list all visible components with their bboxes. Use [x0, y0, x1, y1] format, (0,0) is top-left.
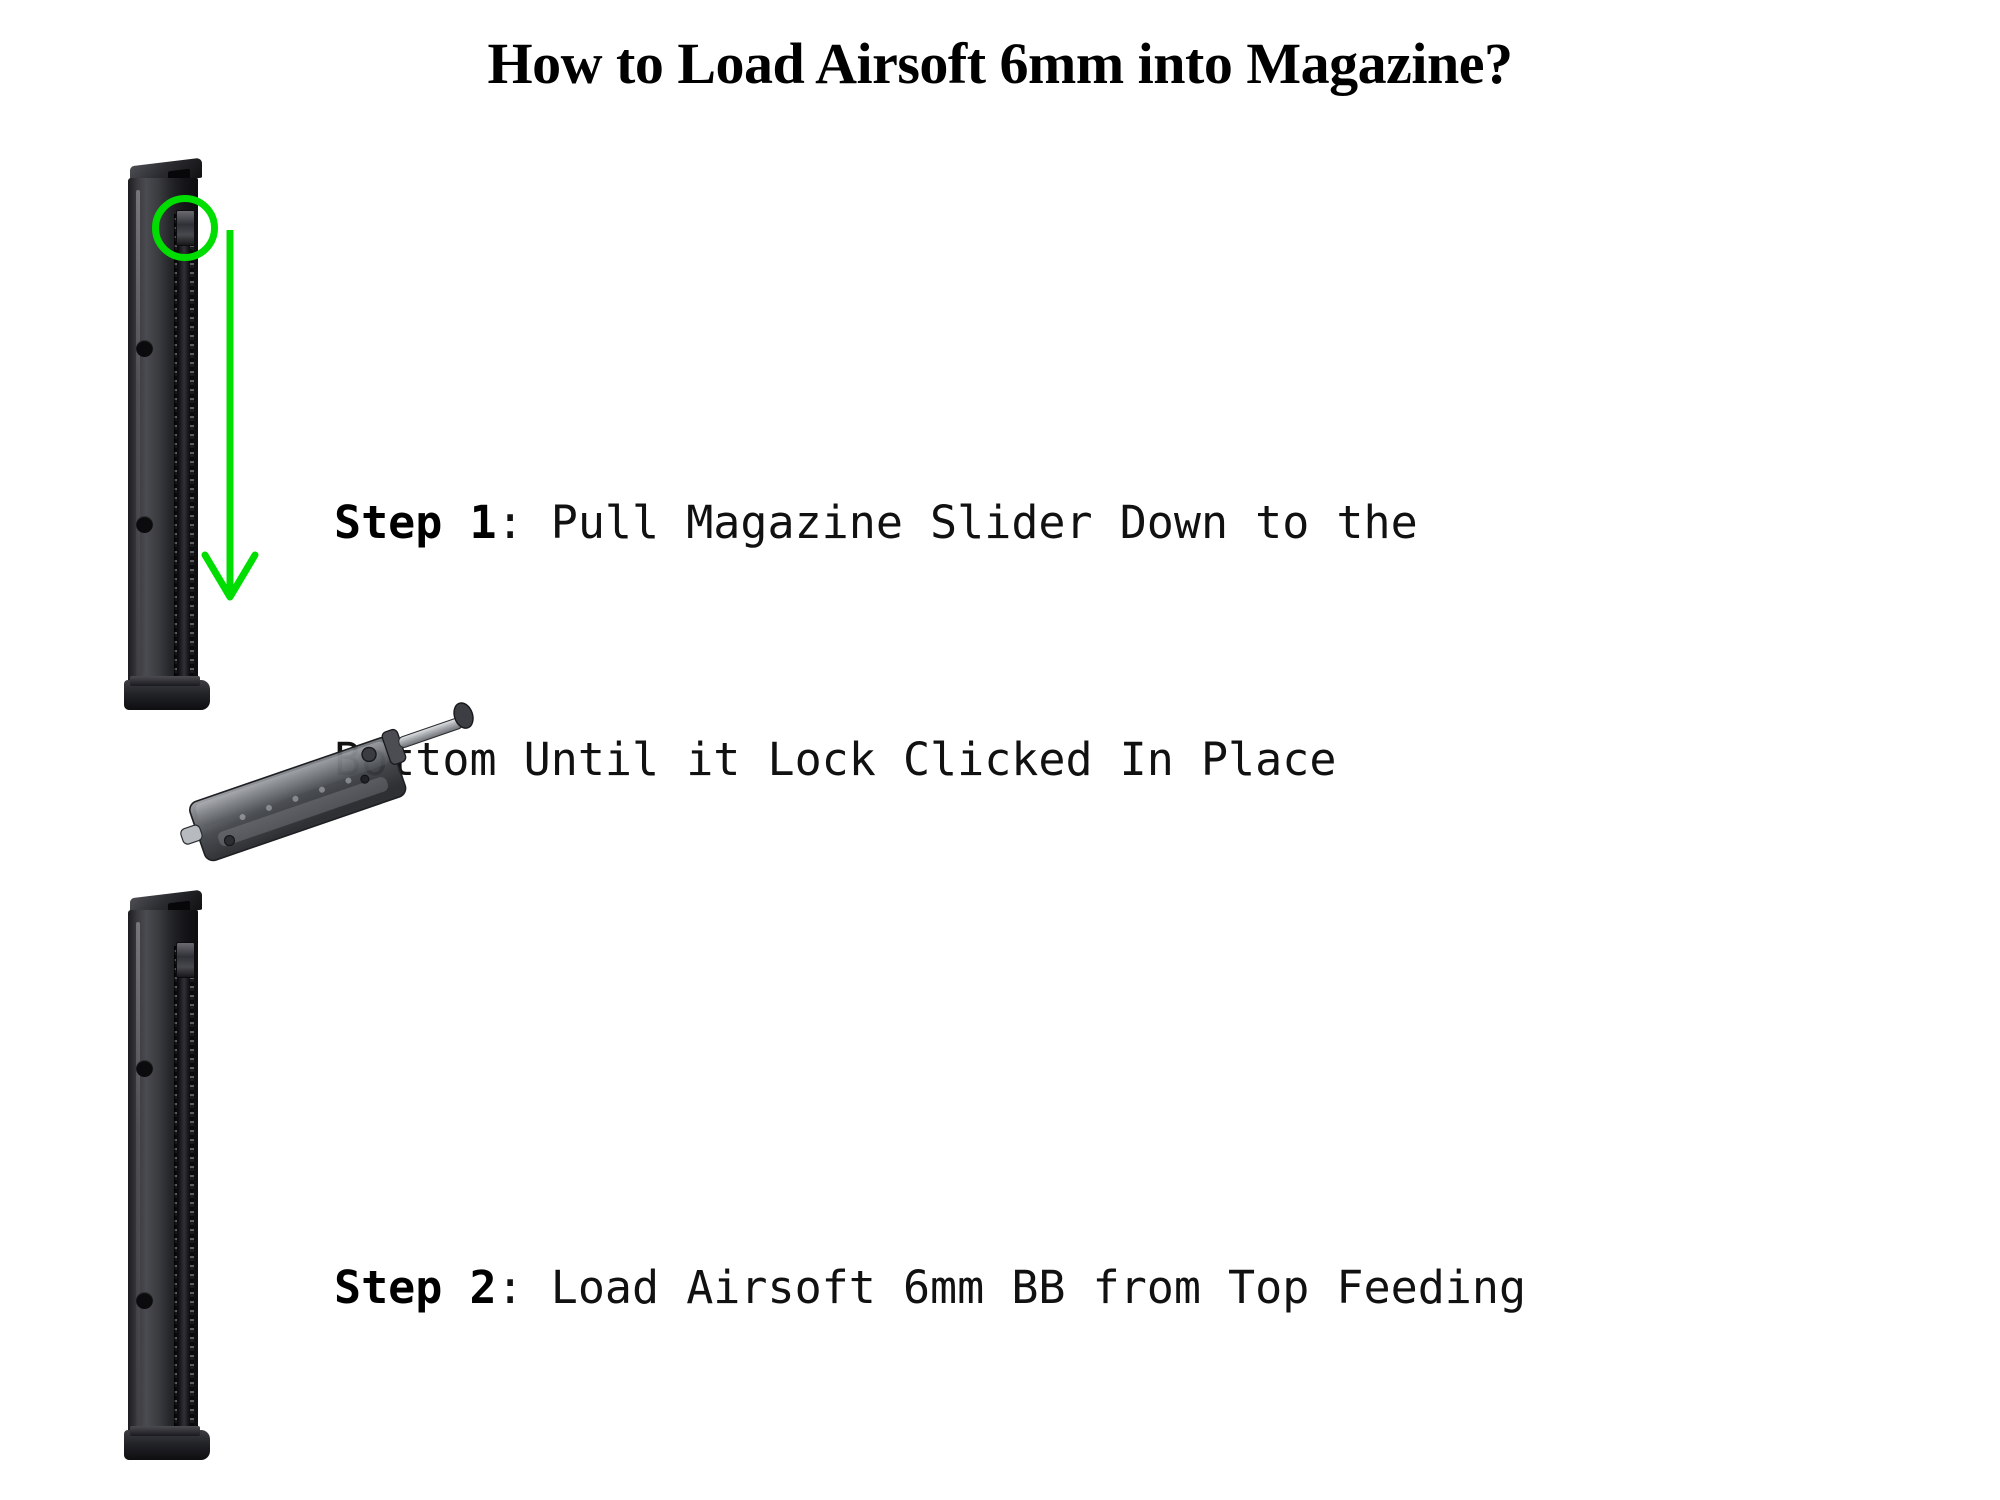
step1-line1: Step 1: Pull Magazine Slider Down to the [334, 483, 1418, 562]
magazine-body-hole [136, 516, 153, 533]
instruction-graphic: How to Load Airsoft 6mm into Magazine? S… [0, 0, 2000, 1500]
magazine-rail-slot [177, 946, 190, 1432]
magazine-baseplate-lip [130, 1426, 200, 1436]
magazine-illustration-step2 [128, 900, 218, 1460]
magazine-body-highlight [136, 190, 140, 685]
magazine-body-hole [136, 1060, 153, 1077]
step2-text-block: Step 2: Load Airsoft 6mm BB from Top Fee… [334, 1090, 1526, 1500]
step2-line2: Hole of the Magazine, Recommended to use [334, 1485, 1526, 1500]
page-title: How to Load Airsoft 6mm into Magazine? [0, 30, 2000, 97]
step1-separator: : [497, 496, 551, 549]
step1-label: Step 1 [334, 496, 497, 549]
magazine-body-highlight [136, 922, 140, 1434]
magazine-body-hole [136, 340, 153, 357]
step1-text-line1: Pull Magazine Slider Down to the [551, 496, 1418, 549]
speedloader-illustration [168, 698, 498, 878]
speedloader-plunger-rod [397, 717, 463, 749]
magazine-body-hole [136, 1292, 153, 1309]
magazine-baseplate-lip [130, 676, 200, 686]
magazine-slider[interactable] [176, 942, 195, 978]
pull-down-arrow-icon [185, 225, 275, 625]
step2-separator: : [497, 1261, 551, 1314]
step2-line1: Step 2: Load Airsoft 6mm BB from Top Fee… [334, 1248, 1526, 1327]
step2-label: Step 2 [334, 1261, 497, 1314]
step2-text-line1: Load Airsoft 6mm BB from Top Feeding [551, 1261, 1526, 1314]
